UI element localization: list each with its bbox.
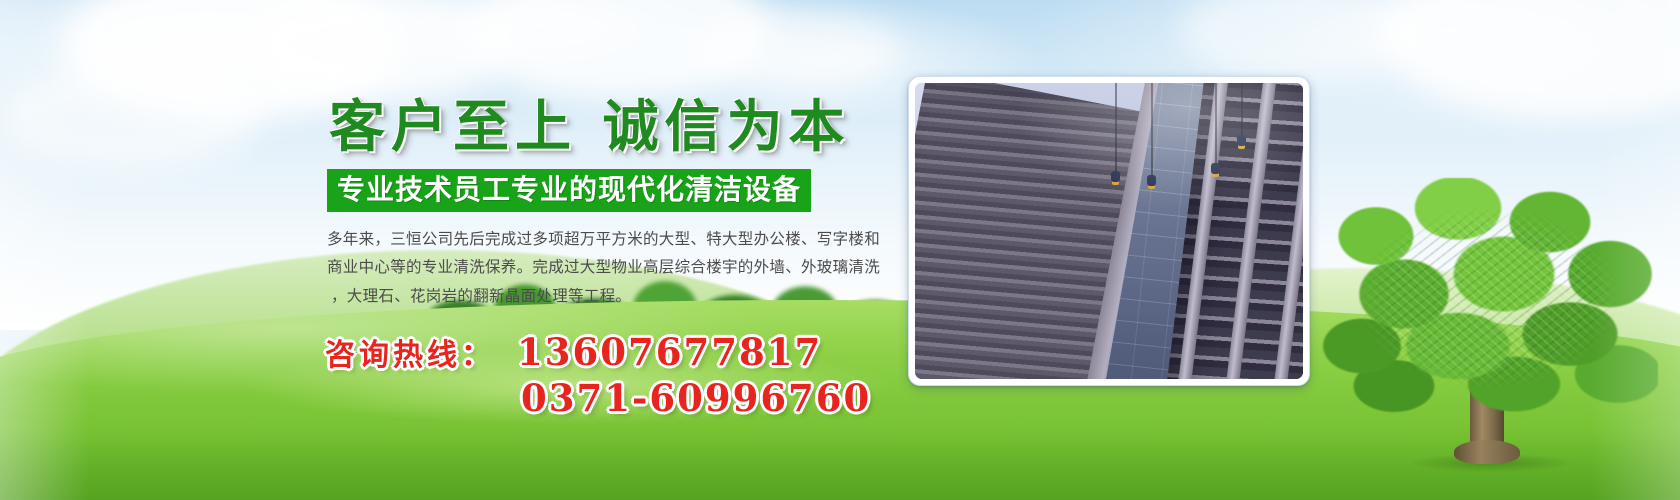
building-photo — [915, 83, 1303, 379]
body-line-1: 多年来，三恒公司先后完成过多项超万平方米的大型、特大型办公楼、写字楼和 — [327, 226, 892, 255]
banner-subtitle-bar: 专业技术员工专业的现代化清洁设备 — [327, 169, 811, 212]
cloud-shape — [1180, 0, 1420, 80]
promo-banner: 客户至上 诚信为本 专业技术员工专业的现代化清洁设备 多年来，三恒公司先后完成过… — [0, 0, 1680, 500]
building-photo-frame[interactable] — [908, 76, 1310, 386]
hotline-phone-secondary[interactable]: 0371-60996760 — [521, 376, 905, 420]
cloud-shape — [700, 10, 900, 90]
banner-text-block: 客户至上 诚信为本 专业技术员工专业的现代化清洁设备 多年来，三恒公司先后完成过… — [325, 98, 905, 420]
hotline-label: 咨询热线： — [325, 330, 495, 374]
left-edge-fade — [0, 0, 90, 500]
body-line-2: 商业中心等的专业清洗保养。完成过大型物业高层综合楼宇的外墙、外玻璃清洗 — [327, 254, 892, 283]
hotline-row: 咨询热线： 13607677817 — [325, 330, 905, 374]
banner-body-text: 多年来，三恒公司先后完成过多项超万平方米的大型、特大型办公楼、写字楼和 商业中心… — [327, 226, 892, 312]
photo-light-glow — [915, 83, 1303, 379]
body-line-3: ，大理石、花岗岩的翻新晶面处理等工程。 — [327, 283, 892, 312]
banner-headline: 客户至上 诚信为本 — [329, 98, 905, 157]
hotline-phone-primary[interactable]: 13607677817 — [517, 330, 822, 374]
right-edge-fade — [1590, 0, 1680, 500]
